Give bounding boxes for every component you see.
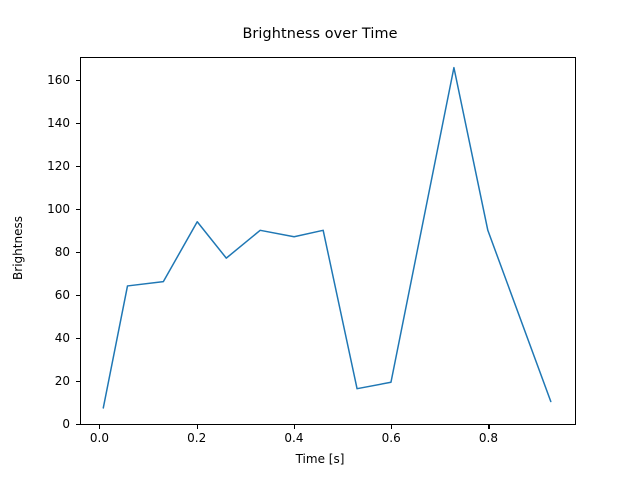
y-tick-label: 0 xyxy=(62,417,70,431)
x-tick-mark xyxy=(99,425,100,429)
figure-canvas: Brightness over Time 0204060801001201401… xyxy=(0,0,640,480)
plot-axes-area xyxy=(80,57,576,425)
y-tick-label: 80 xyxy=(55,245,70,259)
x-tick-label: 0.6 xyxy=(382,431,401,445)
x-tick-label: 0.2 xyxy=(187,431,206,445)
x-tick-mark xyxy=(391,425,392,429)
x-tick-label: 0.0 xyxy=(90,431,109,445)
y-axis-label: Brightness xyxy=(11,148,25,348)
y-tick-label: 60 xyxy=(55,288,70,302)
x-tick-label: 0.8 xyxy=(479,431,498,445)
x-axis-tick-labels: 0.00.20.40.60.8 xyxy=(0,431,640,451)
y-tick-label: 20 xyxy=(55,374,70,388)
x-tick-label: 0.4 xyxy=(284,431,303,445)
x-tick-mark xyxy=(197,425,198,429)
x-tick-mark xyxy=(488,425,489,429)
y-tick-label: 120 xyxy=(47,159,70,173)
y-tick-label: 140 xyxy=(47,116,70,130)
x-tick-mark xyxy=(294,425,295,429)
brightness-series-line xyxy=(103,68,551,408)
line-plot xyxy=(81,58,575,424)
y-tick-label: 40 xyxy=(55,331,70,345)
y-tick-label: 100 xyxy=(47,202,70,216)
y-tick-label: 160 xyxy=(47,73,70,87)
chart-title: Brightness over Time xyxy=(0,26,640,42)
x-axis-label: Time [s] xyxy=(0,452,640,466)
